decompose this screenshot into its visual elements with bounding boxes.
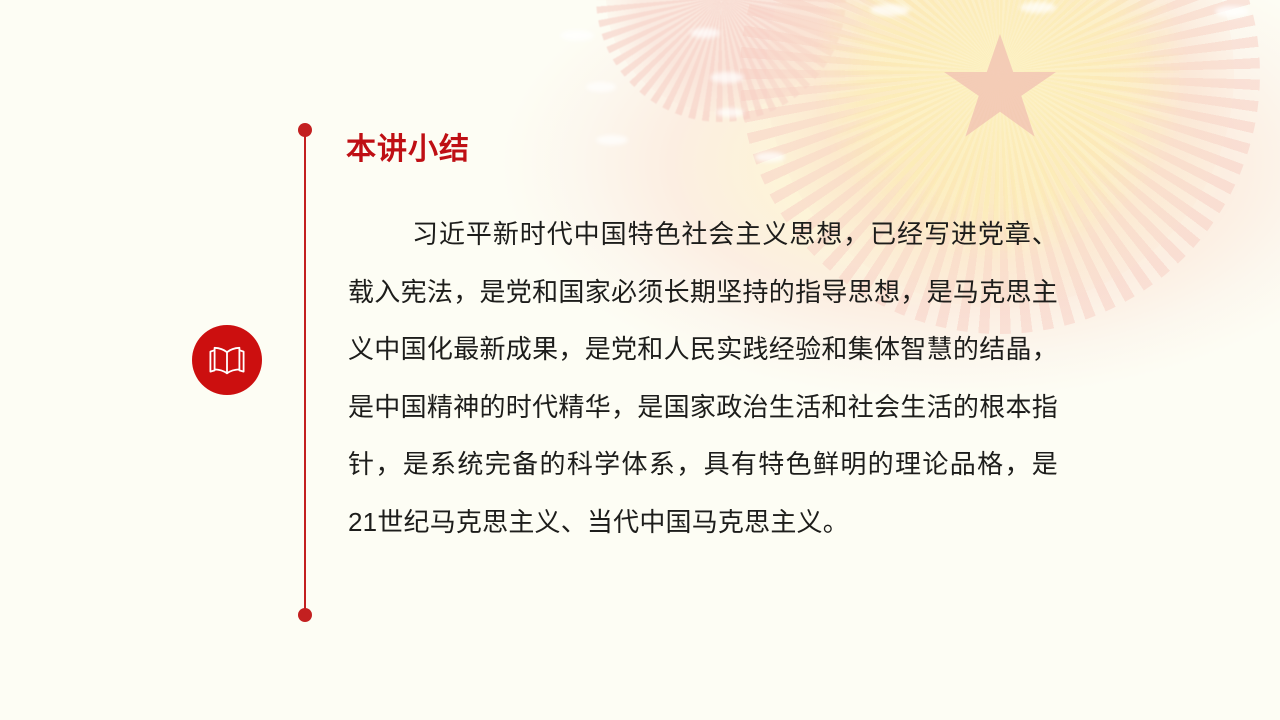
light-dot (870, 4, 910, 16)
five-pointed-star-icon (944, 34, 1056, 142)
light-dot (586, 82, 616, 92)
light-dot (755, 152, 785, 162)
timeline-dot-bottom (298, 608, 312, 622)
serrated-cog-emblem-icon (596, 0, 846, 122)
book-badge (192, 325, 262, 395)
light-dot (596, 135, 628, 145)
light-dot (716, 108, 744, 117)
timeline-rail (304, 130, 306, 615)
light-dot (1020, 2, 1056, 13)
light-dot (1215, 6, 1249, 17)
serrated-cog-disc (606, 0, 836, 112)
open-book-icon (207, 344, 247, 376)
timeline-dot-top (298, 123, 312, 137)
light-dot (710, 72, 744, 83)
page-title: 本讲小结 (346, 132, 470, 168)
light-dot (560, 30, 594, 41)
radial-burst-core (848, 0, 1154, 224)
light-dot (690, 28, 720, 38)
summary-paragraph: 习近平新时代中国特色社会主义思想，已经写进党章、载入宪法，是党和国家必须长期坚持… (348, 206, 1058, 551)
slide-canvas: 本讲小结 习近平新时代中国特色社会主义思想，已经写进党章、载入宪法，是党和国家必… (0, 0, 1280, 720)
